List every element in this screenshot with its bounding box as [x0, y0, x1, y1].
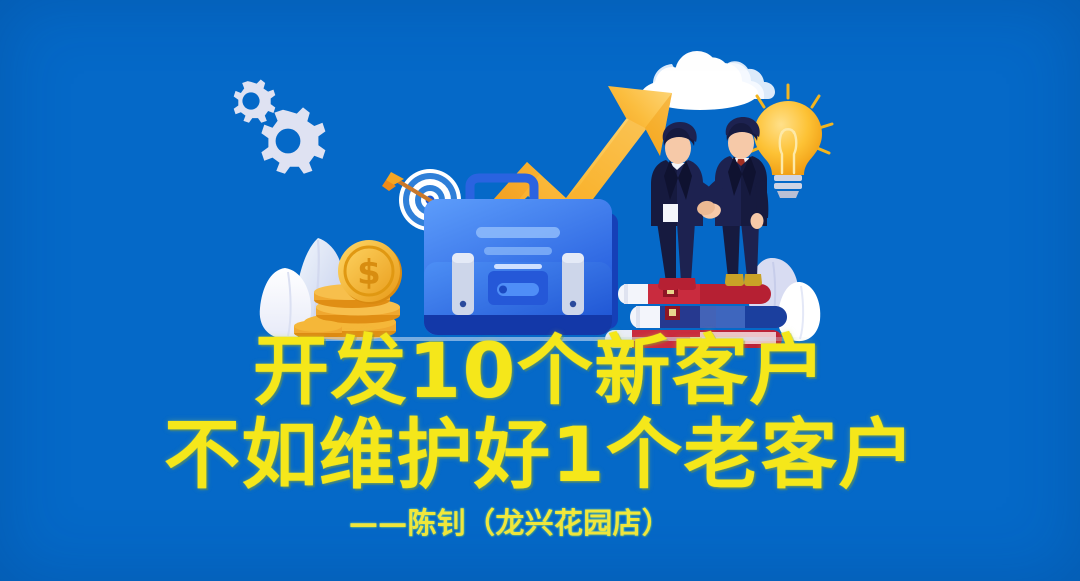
headline-block: 开发10个新客户 不如维护好1个老客户 [0, 332, 1080, 493]
illustration-svg: $ [0, 0, 1080, 350]
handshake-illustration [651, 117, 768, 290]
headline-line-2: 不如维护好1个老客户 [0, 416, 1080, 494]
poster-canvas: $ [0, 0, 1080, 581]
hero-illustration: $ [0, 0, 1080, 350]
headline-line-1: 开发10个新客户 [0, 332, 1080, 410]
attribution-block: ——陈钊（龙兴花园店） [0, 500, 1080, 542]
attribution-text: ——陈钊（龙兴花园店） [349, 506, 671, 540]
gears-icon [234, 80, 326, 174]
svg-text:$: $ [357, 253, 381, 293]
briefcase-icon [424, 178, 618, 335]
